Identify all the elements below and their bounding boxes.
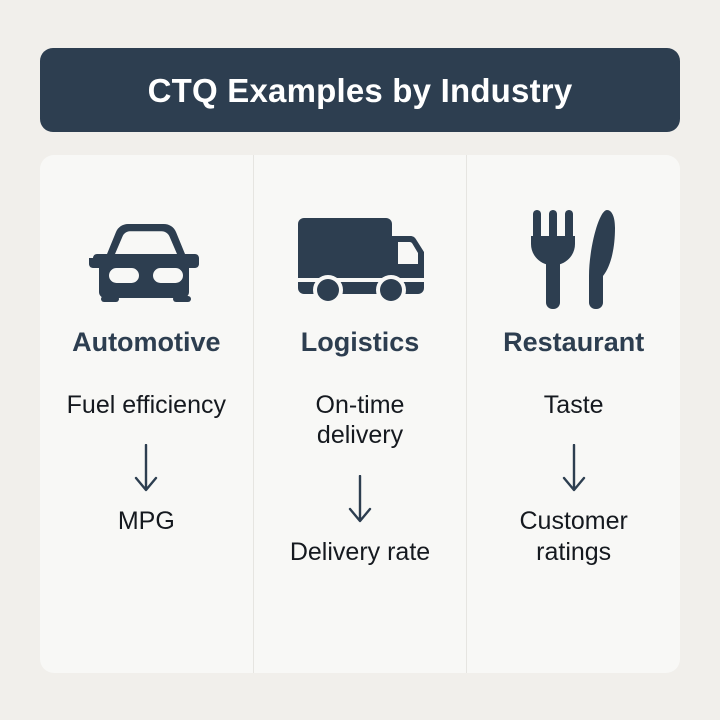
industry-label: Restaurant (503, 328, 644, 358)
fork-and-knife-icon (529, 195, 619, 320)
ctq-infographic: CTQ Examples by Industry Automotive Fuel… (0, 0, 720, 720)
ctq-characteristic: Fuel efficiency (67, 390, 226, 421)
down-arrow-icon (561, 442, 587, 496)
down-arrow-icon (347, 473, 373, 527)
column-automotive: Automotive Fuel efficiency MPG (40, 155, 253, 673)
ctq-metric: Customer ratings (479, 506, 669, 567)
ctq-metric: Delivery rate (290, 537, 430, 568)
column-restaurant: Restaurant Taste Customer ratings (466, 155, 680, 673)
title-banner: CTQ Examples by Industry (40, 48, 680, 132)
industry-label: Automotive (72, 328, 221, 358)
ctq-metric: MPG (118, 506, 175, 537)
delivery-truck-icon (294, 195, 426, 320)
down-arrow-icon (133, 442, 159, 496)
column-logistics: Logistics On-time delivery Delivery rate (253, 155, 467, 673)
car-icon (85, 195, 207, 320)
industry-card: Automotive Fuel efficiency MPG (40, 155, 680, 673)
page-title: CTQ Examples by Industry (148, 74, 573, 107)
ctq-characteristic: Taste (544, 390, 604, 421)
ctq-characteristic: On-time delivery (270, 390, 450, 451)
industry-label: Logistics (301, 328, 420, 358)
